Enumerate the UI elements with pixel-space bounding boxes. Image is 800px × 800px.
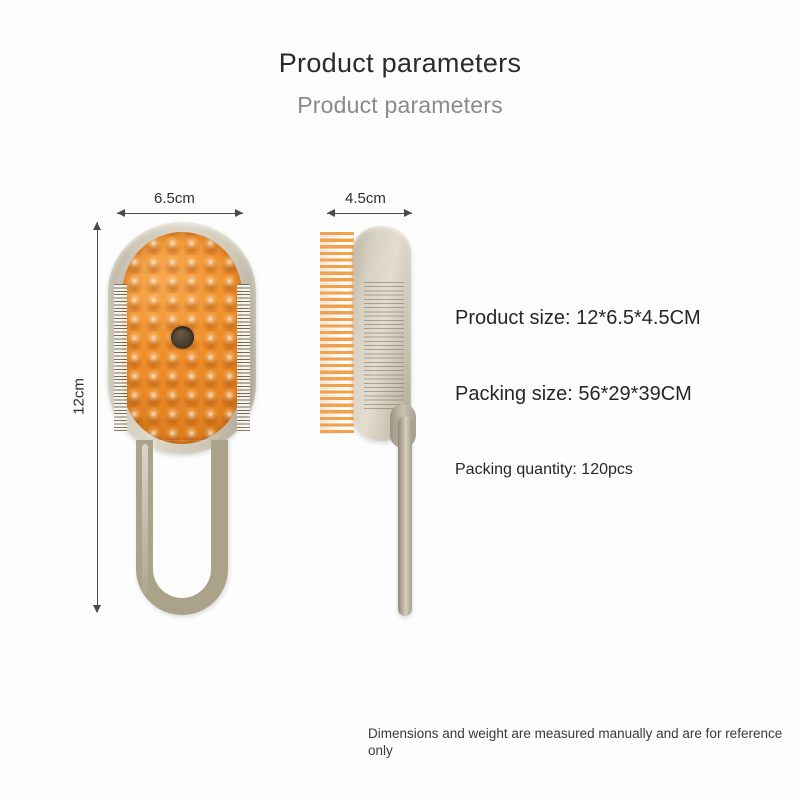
- dimension-label-front-width: 6.5cm: [154, 190, 195, 207]
- arrow-left-icon-side-width: [327, 209, 335, 217]
- arrow-right-icon-front-width: [235, 209, 243, 217]
- product-side-view: [318, 226, 428, 618]
- dimension-label-front-height: 12cm: [71, 376, 88, 418]
- center-button-hole: [171, 326, 194, 349]
- comb-teeth-left: [114, 284, 127, 432]
- arrow-right-icon-side-width: [404, 209, 412, 217]
- comb-ridges-side: [364, 282, 404, 410]
- spec-packing-size: Packing size: 56*29*39CM: [455, 383, 692, 406]
- arrow-down-icon-front-height: [93, 605, 101, 613]
- page-title: Product parameters: [0, 48, 800, 79]
- handle-loop-front: [136, 440, 228, 615]
- comb-teeth-right: [237, 284, 250, 432]
- arrow-up-icon-front-height: [93, 222, 101, 230]
- arrow-left-icon-front-width: [117, 209, 125, 217]
- bristles-shading: [320, 232, 354, 434]
- dimension-line-front-height: [97, 222, 98, 612]
- product-front-view: [108, 222, 256, 615]
- page-subtitle: Product parameters: [0, 92, 800, 119]
- spec-packing-quantity: Packing quantity: 120pcs: [455, 461, 633, 479]
- handle-loop-side: [398, 416, 412, 616]
- disclaimer-note: Dimensions and weight are measured manua…: [368, 725, 783, 759]
- dimension-label-side-width: 4.5cm: [345, 190, 386, 207]
- handle-highlight: [142, 444, 148, 594]
- spec-product-size: Product size: 12*6.5*4.5CM: [455, 307, 701, 330]
- brush-head-front: [108, 222, 256, 454]
- dimension-line-front-width: [117, 213, 243, 214]
- dimension-line-side-width: [327, 213, 412, 214]
